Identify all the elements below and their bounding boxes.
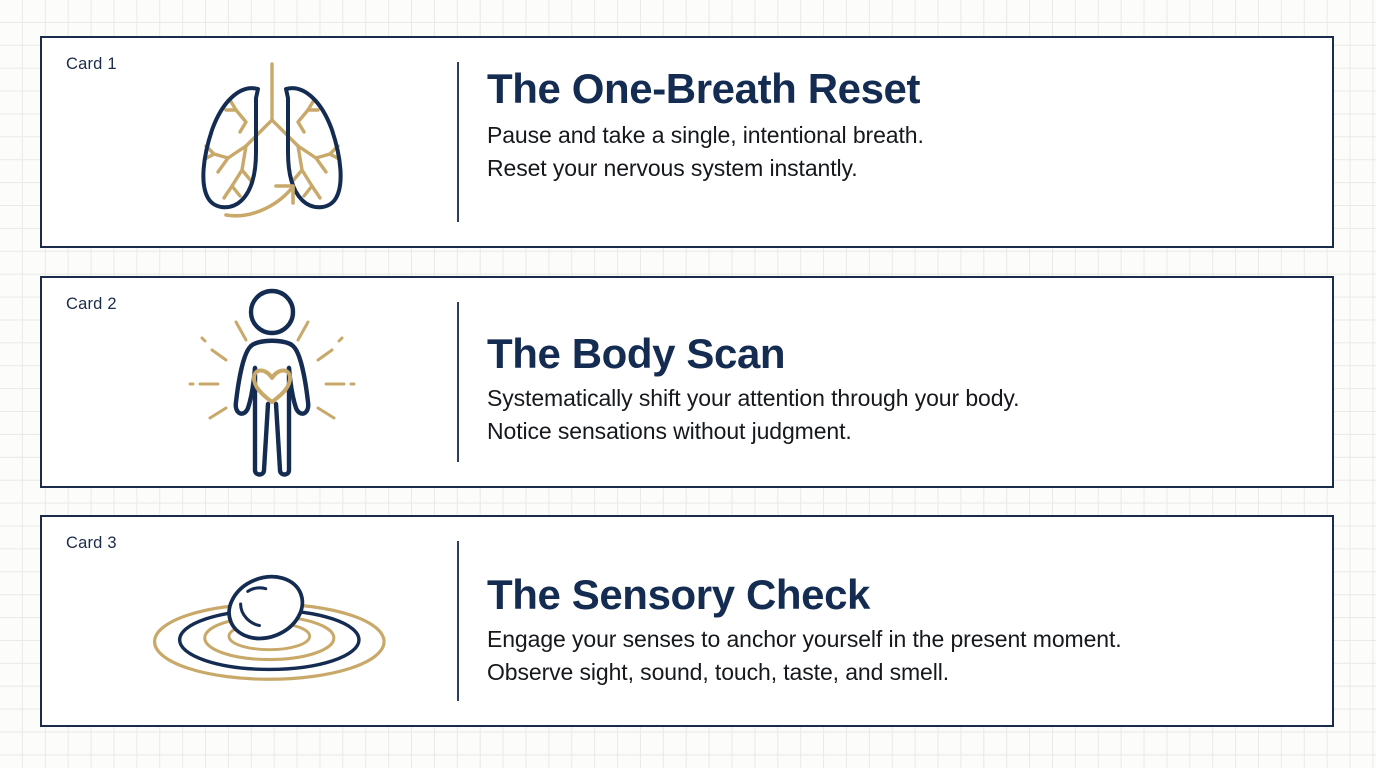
card-sensory-check[interactable]: Card 3 The Sensory bbox=[40, 515, 1334, 727]
card-title: The One-Breath Reset bbox=[487, 66, 1308, 111]
card-text-column: The One-Breath Reset Pause and take a si… bbox=[487, 38, 1308, 246]
card-subtitle-line-1: Pause and take a single, intentional bre… bbox=[487, 119, 1308, 152]
pebble-ripples-icon bbox=[142, 517, 402, 725]
card-text-column: The Sensory Check Engage your senses to … bbox=[487, 517, 1308, 725]
infographic-page: Card 1 bbox=[0, 0, 1376, 768]
card-title: The Body Scan bbox=[487, 331, 1308, 376]
card-label: Card 2 bbox=[66, 295, 117, 314]
card-label: Card 1 bbox=[66, 55, 117, 74]
lungs-breathing-icon bbox=[142, 38, 402, 246]
card-subtitle-line-2: Notice sensations without judgment. bbox=[487, 415, 1308, 448]
radiating-body-with-heart-icon bbox=[142, 278, 402, 486]
card-subtitle-line-2: Reset your nervous system instantly. bbox=[487, 152, 1308, 185]
card-subtitle-line-2: Observe sight, sound, touch, taste, and … bbox=[487, 656, 1308, 689]
card-divider bbox=[457, 541, 459, 701]
card-divider bbox=[457, 302, 459, 462]
card-body-scan[interactable]: Card 2 bbox=[40, 276, 1334, 488]
card-subtitle-line-1: Systematically shift your attention thro… bbox=[487, 382, 1308, 415]
card-one-breath-reset[interactable]: Card 1 bbox=[40, 36, 1334, 248]
card-subtitle-line-1: Engage your senses to anchor yourself in… bbox=[487, 623, 1308, 656]
card-title: The Sensory Check bbox=[487, 572, 1308, 617]
card-text-column: The Body Scan Systematically shift your … bbox=[487, 278, 1308, 486]
card-label: Card 3 bbox=[66, 534, 117, 553]
card-divider bbox=[457, 62, 459, 222]
